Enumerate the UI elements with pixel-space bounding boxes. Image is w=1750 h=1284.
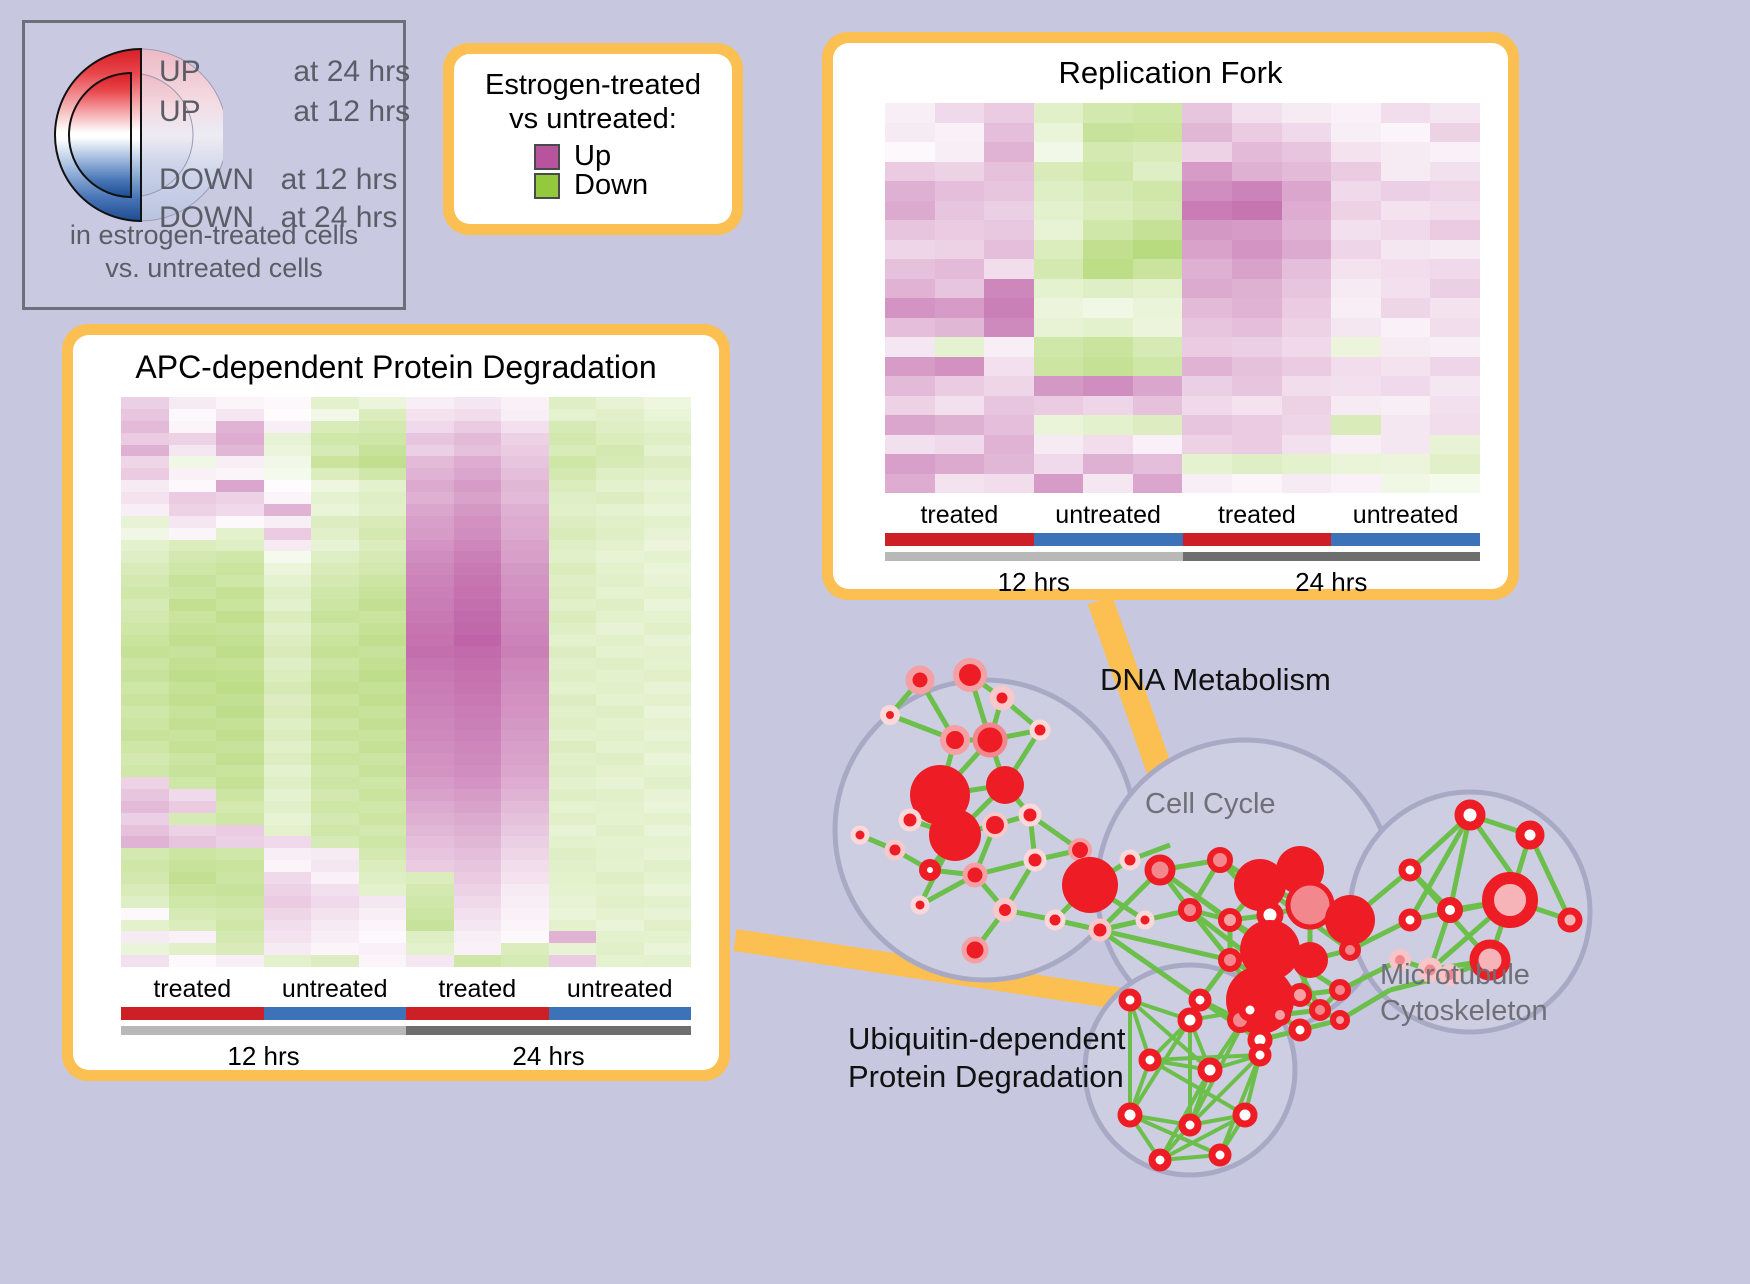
heatmap-cell <box>1083 142 1133 162</box>
cluster-label-ubiquitin-line1: Ubiquitin-dependent <box>848 1020 1126 1058</box>
heatmap-cell <box>121 955 169 967</box>
heatmap-cell <box>264 706 312 718</box>
heatmap-cell <box>1430 240 1480 260</box>
heatmap-cell <box>1034 396 1084 416</box>
heatmap-cell <box>121 789 169 801</box>
heatmap-cell <box>885 474 935 494</box>
heatmap-cell <box>311 896 359 908</box>
heatmap-cell <box>1232 123 1282 143</box>
heatmap-cell <box>121 884 169 896</box>
apc-time-labels: 12 hrs 24 hrs <box>121 1041 691 1072</box>
heatmap-cell <box>935 454 985 474</box>
heatmap-cell <box>1034 103 1084 123</box>
heatmap-cell <box>264 931 312 943</box>
heatmap-cell <box>406 718 454 730</box>
heatmap-cell <box>1430 259 1480 279</box>
heatmap-cell <box>406 635 454 647</box>
heatmap-cell <box>984 415 1034 435</box>
heatmap-cell <box>169 765 217 777</box>
heatmap-cell <box>121 848 169 860</box>
heatmap-cell <box>596 670 644 682</box>
heatmap-cell <box>169 706 217 718</box>
heatmap-cell <box>264 920 312 932</box>
heatmap-cell <box>311 777 359 789</box>
heatmap-cell <box>644 635 692 647</box>
heatmap-cell <box>1331 162 1381 182</box>
heatmap-cell <box>406 848 454 860</box>
heatmap-cell <box>311 848 359 860</box>
heatmap-cell <box>501 920 549 932</box>
heatmap-cell <box>984 337 1034 357</box>
heatmap-cell <box>406 753 454 765</box>
heatmap-cell <box>885 396 935 416</box>
heatmap-cell <box>121 801 169 813</box>
heatmap-cell <box>359 409 407 421</box>
heatmap-cell <box>121 730 169 742</box>
heatmap-cell <box>1232 201 1282 221</box>
heatmap-cell <box>1182 376 1232 396</box>
heatmap-cell <box>216 599 264 611</box>
heatmap-cell <box>644 551 692 563</box>
heatmap-cell <box>264 599 312 611</box>
heatmap-cell <box>549 563 597 575</box>
heatmap-cell <box>1331 240 1381 260</box>
heatmap-cell <box>121 920 169 932</box>
heatmap-cell <box>169 504 217 516</box>
heatmap-cell <box>169 896 217 908</box>
heatmap-cell <box>216 456 264 468</box>
heatmap-cell <box>935 396 985 416</box>
heatmap-cell <box>935 201 985 221</box>
cluster-label-cell-cycle: Cell Cycle <box>1145 788 1276 821</box>
heatmap-cell <box>644 445 692 457</box>
heatmap-cell <box>216 860 264 872</box>
heatmap-cell <box>264 908 312 920</box>
heatmap-cell <box>359 718 407 730</box>
heatmap-cell <box>454 658 502 670</box>
heatmap-cell <box>644 718 692 730</box>
heatmap-cell <box>216 409 264 421</box>
condition-bar-untreated-12 <box>264 1007 407 1020</box>
heatmap-cell <box>596 943 644 955</box>
heatmap-cell <box>169 516 217 528</box>
heatmap-cell <box>935 279 985 299</box>
heatmap-cell <box>1430 396 1480 416</box>
time-label: 24 hrs <box>406 1041 691 1072</box>
heatmap-cell <box>644 848 692 860</box>
heatmap-cell <box>169 623 217 635</box>
color-key-footnote-line2: vs. untreated cells <box>25 252 403 285</box>
heatmap-cell <box>644 456 692 468</box>
heatmap-cell <box>311 409 359 421</box>
heatmap-cell <box>169 718 217 730</box>
heatmap-cell <box>359 421 407 433</box>
heatmap-cell <box>121 575 169 587</box>
heatmap-cell <box>1083 337 1133 357</box>
heatmap-cell <box>121 551 169 563</box>
heatmap-cell <box>311 445 359 457</box>
heatmap-cell <box>311 789 359 801</box>
heatmap-cell <box>454 943 502 955</box>
heatmap-cell <box>549 611 597 623</box>
heatmap-cell <box>406 765 454 777</box>
heatmap-cell <box>549 730 597 742</box>
cluster-label-microtubule-line1: Microtubule <box>1380 957 1548 993</box>
heatmap-cell <box>1034 357 1084 377</box>
heatmap-cell <box>264 730 312 742</box>
heatmap-cell <box>1331 396 1381 416</box>
heatmap-cell <box>644 646 692 658</box>
heatmap-cell <box>264 563 312 575</box>
heatmap-cell <box>264 694 312 706</box>
heatmap-cell <box>1034 220 1084 240</box>
heatmap-cell <box>121 943 169 955</box>
heatmap-cell <box>549 658 597 670</box>
heatmap-cell <box>311 718 359 730</box>
heatmap-cell <box>1232 376 1282 396</box>
heatmap-cell <box>359 611 407 623</box>
heatmap-cell <box>644 670 692 682</box>
heatmap-cell <box>549 635 597 647</box>
heatmap-cell <box>406 528 454 540</box>
heatmap-cell <box>169 682 217 694</box>
heatmap-cell <box>169 813 217 825</box>
heatmap-cell <box>1133 357 1183 377</box>
heatmap-cell <box>501 765 549 777</box>
heatmap-cell <box>549 599 597 611</box>
heatmap-cell <box>1232 454 1282 474</box>
heatmap-cell <box>935 162 985 182</box>
heatmap-cell <box>406 551 454 563</box>
heatmap-cell <box>169 753 217 765</box>
heatmap-cell <box>1331 123 1381 143</box>
heatmap-cell <box>596 599 644 611</box>
heatmap-cell <box>1034 435 1084 455</box>
heatmap-cell <box>1133 162 1183 182</box>
heatmap-cell <box>121 931 169 943</box>
heatmap-cell <box>169 872 217 884</box>
heatmap-cell <box>359 694 407 706</box>
heatmap-cell <box>121 658 169 670</box>
heatmap-cell <box>359 730 407 742</box>
heatmap-cell <box>885 103 935 123</box>
heatmap-cell <box>1430 376 1480 396</box>
heatmap-cell <box>264 468 312 480</box>
heatmap-cell <box>264 433 312 445</box>
color-key-state: DOWN <box>159 163 254 197</box>
heatmap-cell <box>406 825 454 837</box>
heatmap-cell <box>644 931 692 943</box>
heatmap-cell <box>1182 435 1232 455</box>
heatmap-cell <box>1182 240 1232 260</box>
heatmap-cell <box>549 409 597 421</box>
heatmap-cell <box>216 955 264 967</box>
heatmap-cell <box>1182 415 1232 435</box>
heatmap-cell <box>454 646 502 658</box>
heatmap-cell <box>169 955 217 967</box>
heatmap-cell <box>169 551 217 563</box>
condition-bar-treated-12 <box>121 1007 264 1020</box>
heatmap-cell <box>454 955 502 967</box>
heatmap-cell <box>454 670 502 682</box>
legend-title: Estrogen-treated vs untreated: <box>454 68 732 136</box>
heatmap-cell <box>885 435 935 455</box>
heatmap-cell <box>311 931 359 943</box>
heatmap-cell <box>406 492 454 504</box>
heatmap-cell <box>596 789 644 801</box>
heatmap-cell <box>1083 298 1133 318</box>
heatmap-cell <box>644 563 692 575</box>
heatmap-cell <box>1232 279 1282 299</box>
heatmap-cell <box>1083 376 1133 396</box>
heatmap-cell <box>1182 357 1232 377</box>
heatmap-cell <box>121 813 169 825</box>
heatmap-cell <box>1133 240 1183 260</box>
heatmap-cell <box>1182 454 1232 474</box>
heatmap-cell <box>596 765 644 777</box>
heatmap-cell <box>169 445 217 457</box>
color-key-panel: UP at 24 hrs UP at 12 hrs DOWN at 12 hrs… <box>22 20 406 310</box>
condition-bar-untreated-12 <box>1034 533 1183 546</box>
heatmap-cell <box>935 337 985 357</box>
heatmap-cell <box>1182 396 1232 416</box>
heatmap-cell <box>454 635 502 647</box>
heatmap-cell <box>596 421 644 433</box>
heatmap-cell <box>549 445 597 457</box>
heatmap-cell <box>1034 240 1084 260</box>
heatmap-cell <box>984 259 1034 279</box>
replication-condition-labels: treated untreated treated untreated <box>885 501 1480 530</box>
heatmap-cell <box>984 454 1034 474</box>
heatmap-cell <box>596 753 644 765</box>
heatmap-cell <box>549 682 597 694</box>
heatmap-cell <box>454 813 502 825</box>
heatmap-cell <box>1331 318 1381 338</box>
heatmap-cell <box>264 587 312 599</box>
heatmap-cell <box>1430 142 1480 162</box>
heatmap-cell <box>264 884 312 896</box>
heatmap-cell <box>311 492 359 504</box>
heatmap-cell <box>984 376 1034 396</box>
heatmap-cell <box>1083 318 1133 338</box>
heatmap-cell <box>549 931 597 943</box>
heatmap-cell <box>1430 435 1480 455</box>
heatmap-cell <box>216 813 264 825</box>
heatmap-cell <box>1331 259 1381 279</box>
heatmap-cell <box>216 528 264 540</box>
heatmap-cell <box>359 575 407 587</box>
heatmap-cell <box>121 599 169 611</box>
heatmap-cell <box>1331 201 1381 221</box>
heatmap-cell <box>1182 201 1232 221</box>
heatmap-cell <box>121 670 169 682</box>
heatmap-cell <box>264 611 312 623</box>
heatmap-cell <box>501 848 549 860</box>
heatmap-cell <box>549 896 597 908</box>
heatmap-cell <box>644 623 692 635</box>
heatmap-cell <box>169 563 217 575</box>
heatmap-cell <box>216 694 264 706</box>
heatmap-cell <box>311 801 359 813</box>
heatmap-cell <box>1232 298 1282 318</box>
heatmap-cell <box>596 397 644 409</box>
heatmap-cell <box>216 646 264 658</box>
heatmap-cell <box>1182 298 1232 318</box>
heatmap-cell <box>1182 220 1232 240</box>
heatmap-cell <box>984 357 1034 377</box>
heatmap-cell <box>264 682 312 694</box>
heatmap-cell <box>216 884 264 896</box>
heatmap-cell <box>169 848 217 860</box>
heatmap-cell <box>1381 123 1431 143</box>
heatmap-cell <box>169 801 217 813</box>
condition-label: treated <box>885 501 1034 530</box>
heatmap-cell <box>1430 357 1480 377</box>
heatmap-cell <box>169 777 217 789</box>
heatmap-cell <box>501 955 549 967</box>
heatmap-cell <box>454 789 502 801</box>
heatmap-cell <box>406 599 454 611</box>
heatmap-cell <box>121 445 169 457</box>
heatmap-cell <box>984 103 1034 123</box>
heatmap-cell <box>1083 435 1133 455</box>
heatmap-cell <box>596 480 644 492</box>
heatmap-cell <box>264 575 312 587</box>
heatmap-cell <box>216 492 264 504</box>
heatmap-cell <box>216 730 264 742</box>
heatmap-cell <box>644 587 692 599</box>
heatmap-cell <box>169 789 217 801</box>
heatmap-cell <box>1133 396 1183 416</box>
heatmap-cell <box>216 575 264 587</box>
legend-panel: Estrogen-treated vs untreated: Up Down <box>443 43 743 235</box>
heatmap-cell <box>454 409 502 421</box>
heatmap-cell <box>549 575 597 587</box>
heatmap-cell <box>216 836 264 848</box>
heatmap-cell <box>311 825 359 837</box>
heatmap-cell <box>644 813 692 825</box>
heatmap-cell <box>935 435 985 455</box>
heatmap-cell <box>1083 103 1133 123</box>
heatmap-cell <box>501 421 549 433</box>
heatmap-cell <box>121 480 169 492</box>
heatmap-cell <box>1083 259 1133 279</box>
network-svg <box>790 620 1750 1279</box>
heatmap-cell <box>1381 259 1431 279</box>
heatmap-cell <box>1133 142 1183 162</box>
heatmap-cell <box>549 421 597 433</box>
heatmap-cell <box>1182 337 1232 357</box>
heatmap-cell <box>169 694 217 706</box>
heatmap-cell <box>169 860 217 872</box>
heatmap-cell <box>311 860 359 872</box>
heatmap-cell <box>1034 162 1084 182</box>
heatmap-cell <box>644 741 692 753</box>
heatmap-cell <box>596 718 644 730</box>
heatmap-cell <box>501 504 549 516</box>
heatmap-cell <box>644 920 692 932</box>
color-key-time: at 12 hrs <box>293 95 410 129</box>
cluster-label-microtubule-cytoskeleton: Microtubule Cytoskeleton <box>1380 957 1548 1030</box>
heatmap-cell <box>644 575 692 587</box>
heatmap-cell <box>549 397 597 409</box>
heatmap-cell <box>1381 357 1431 377</box>
heatmap-cell <box>501 896 549 908</box>
network-diagram: DNA Metabolism Cell Cycle Microtubule Cy… <box>790 620 1750 1279</box>
heatmap-cell <box>454 528 502 540</box>
heatmap-cell <box>264 872 312 884</box>
replication-fork-title: Replication Fork <box>833 55 1508 91</box>
heatmap-cell <box>984 142 1034 162</box>
heatmap-cell <box>264 646 312 658</box>
heatmap-cell <box>1232 337 1282 357</box>
heatmap-cell <box>454 492 502 504</box>
heatmap-cell <box>406 789 454 801</box>
heatmap-cell <box>454 920 502 932</box>
heatmap-cell <box>454 801 502 813</box>
heatmap-cell <box>169 480 217 492</box>
heatmap-cell <box>216 433 264 445</box>
heatmap-cell <box>311 753 359 765</box>
heatmap-cell <box>644 504 692 516</box>
heatmap-cell <box>454 540 502 552</box>
replication-fork-axis: treated untreated treated untreated 12 h… <box>885 501 1480 598</box>
heatmap-cell <box>264 623 312 635</box>
heatmap-cell <box>549 813 597 825</box>
heatmap-cell <box>264 528 312 540</box>
heatmap-cell <box>596 646 644 658</box>
heatmap-cell <box>644 611 692 623</box>
heatmap-cell <box>454 730 502 742</box>
heatmap-cell <box>501 445 549 457</box>
heatmap-cell <box>216 551 264 563</box>
heatmap-cell <box>644 860 692 872</box>
heatmap-cell <box>501 777 549 789</box>
cluster-label-dna-metabolism: DNA Metabolism <box>1100 662 1331 698</box>
heatmap-cell <box>596 468 644 480</box>
heatmap-cell <box>644 409 692 421</box>
heatmap-cell <box>1034 474 1084 494</box>
heatmap-cell <box>406 563 454 575</box>
heatmap-cell <box>121 718 169 730</box>
heatmap-cell <box>596 825 644 837</box>
time-bar-24hrs <box>406 1026 691 1035</box>
heatmap-cell <box>501 825 549 837</box>
heatmap-cell <box>1381 396 1431 416</box>
heatmap-cell <box>121 492 169 504</box>
heatmap-cell <box>359 623 407 635</box>
heatmap-cell <box>1232 435 1282 455</box>
heatmap-cell <box>406 836 454 848</box>
heatmap-cell <box>454 896 502 908</box>
apc-degradation-title: APC-dependent Protein Degradation <box>73 349 719 386</box>
heatmap-cell <box>311 433 359 445</box>
heatmap-cell <box>1232 240 1282 260</box>
color-key-footnote-line1: in estrogen-treated cells <box>25 219 403 252</box>
heatmap-cell <box>1282 220 1332 240</box>
heatmap-cell <box>121 504 169 516</box>
heatmap-cell <box>406 777 454 789</box>
heatmap-cell <box>406 872 454 884</box>
heatmap-cell <box>359 825 407 837</box>
heatmap-cell <box>169 635 217 647</box>
heatmap-cell <box>264 658 312 670</box>
heatmap-cell <box>549 504 597 516</box>
heatmap-cell <box>311 504 359 516</box>
heatmap-cell <box>454 682 502 694</box>
heatmap-cell <box>984 123 1034 143</box>
heatmap-cell <box>1331 454 1381 474</box>
